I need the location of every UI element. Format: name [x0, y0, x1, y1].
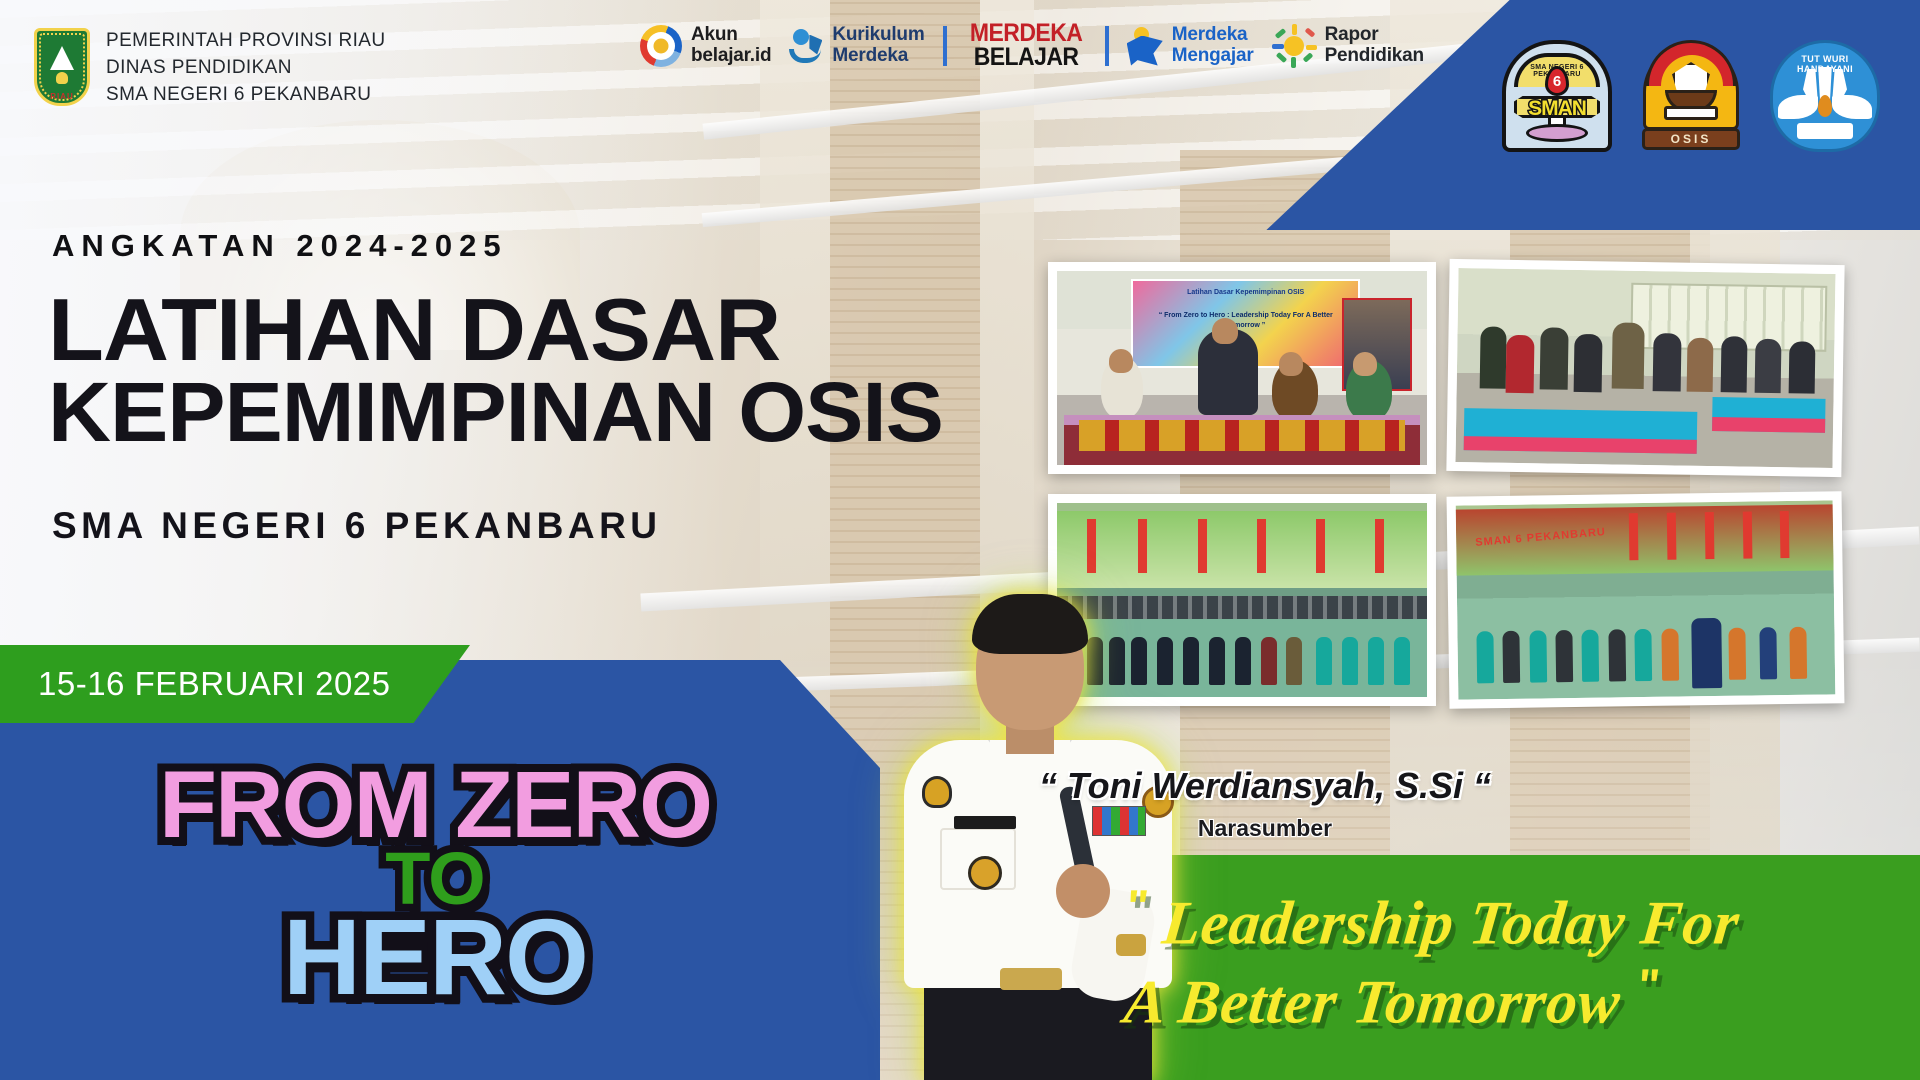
photo-banner-line1: Latihan Dasar Kepemimpinan OSIS — [1147, 288, 1345, 297]
kurikulum-merdeka-icon — [789, 27, 823, 65]
gallery-photo-participants-hall — [1446, 259, 1844, 477]
uniform-medal-icon — [968, 856, 1002, 890]
logo-akun-belajar: Akun belajar.id — [640, 25, 771, 67]
kurikulum-merdeka-line1: Kurikulum — [832, 25, 924, 46]
akun-belajar-icon — [640, 25, 682, 67]
merdeka-mengajar-line2: Mengajar — [1172, 46, 1254, 67]
quote-line-2: A Better Tomorrow — [1121, 969, 1624, 1037]
gov-line-department: DINAS PENDIDIKAN — [106, 55, 386, 82]
gov-line-school: SMA NEGERI 6 PEKANBARU — [106, 82, 386, 109]
riau-emblem-label: RIAU — [34, 92, 90, 101]
poster-canvas: RIAU PEMERINTAH PROVINSI RIAU DINAS PEND… — [0, 0, 1920, 1080]
akun-belajar-line1: Akun — [691, 25, 771, 46]
merdeka-belajar-line2: BELAJAR — [969, 46, 1081, 70]
sman6-emblem-icon: SMA NEGERI 6 PEKANBARU 6 SMAN — [1502, 40, 1612, 152]
akun-belajar-line2: belajar.id — [691, 46, 771, 67]
logo-kurikulum-merdeka: Kurikulum Merdeka — [789, 25, 924, 66]
quote-close-mark: " — [1635, 959, 1663, 1011]
tut-wuri-handayani-emblem-icon: TUT WURI HANDAYANI — [1770, 40, 1880, 152]
title-line-2: KEPEMIMPINAN OSIS — [48, 372, 984, 453]
gov-line-province: PEMERINTAH PROVINSI RIAU — [106, 28, 386, 55]
date-badge-label: 15-16 FEBRUARI 2025 — [0, 665, 391, 703]
speaker-label: “ Toni Werdiansyah, S.Si “ Narasumber — [1030, 765, 1500, 842]
logo-merdeka-mengajar: Merdeka Mengajar — [1127, 25, 1254, 66]
uniform-shoulder-badge-icon — [922, 776, 952, 808]
theme-word-hero: HERO — [70, 907, 800, 1006]
kurikulum-merdeka-line2: Merdeka — [832, 46, 924, 67]
gallery-photo-panel-session: Latihan Dasar Kepemimpinan OSIS “ From Z… — [1048, 262, 1436, 474]
speaker-name: “ Toni Werdiansyah, S.Si “ — [1030, 765, 1500, 807]
rapor-pendidikan-line2: Pendidikan — [1325, 46, 1424, 67]
school-emblem-group: SMA NEGERI 6 PEKANBARU 6 SMAN OSIS TUT W… — [1502, 40, 1880, 152]
eyebrow-angkatan: ANGKATAN 2024-2025 — [52, 228, 508, 264]
date-badge: 15-16 FEBRUARI 2025 — [0, 645, 470, 723]
quote-open-mark: " — [1124, 880, 1152, 932]
photo-banner-line3: “ From Zero to Hero : Leadership Today F… — [1147, 311, 1345, 329]
logo-rapor-pendidikan: Rapor Pendidikan — [1272, 24, 1424, 68]
theme-wordmark: FROM ZERO TO HERO — [70, 762, 800, 1007]
riau-provincial-emblem-icon: RIAU — [34, 28, 90, 106]
logo-divider — [943, 26, 947, 66]
rapor-pendidikan-line1: Rapor — [1325, 25, 1424, 46]
government-header: RIAU PEMERINTAH PROVINSI RIAU DINAS PEND… — [34, 28, 386, 109]
osis-emblem-icon: OSIS — [1636, 40, 1746, 152]
gallery-photo-formation-yard: SMAN 6 PEKANBARU — [1447, 491, 1845, 708]
title-line-1: LATIHAN DASAR — [48, 288, 984, 372]
sman6-word: SMAN — [1506, 97, 1608, 121]
speaker-role: Narasumber — [1030, 815, 1500, 842]
merdeka-mengajar-line1: Merdeka — [1172, 25, 1254, 46]
merdeka-mengajar-icon — [1127, 26, 1163, 66]
osis-base-text: OSIS — [1671, 132, 1712, 146]
logo-merdeka-belajar: MERDEKA BELAJAR — [965, 22, 1087, 69]
theme-word-from-zero: FROM ZERO — [70, 762, 800, 849]
quote-line-1: Leadership Today For — [1159, 890, 1742, 958]
theme-quote: " Leadership Today For A Better Tomorrow… — [1125, 880, 1915, 1039]
rapor-pendidikan-sun-icon — [1272, 24, 1316, 68]
page-subtitle: SMA NEGERI 6 PEKANBARU — [52, 505, 662, 547]
logo-divider — [1105, 26, 1109, 66]
page-title: LATIHAN DASAR KEPEMIMPINAN OSIS — [48, 288, 948, 453]
sman6-number: 6 — [1548, 73, 1566, 90]
partner-logo-strip: Akun belajar.id Kurikulum Merdeka MERDEK… — [640, 22, 1424, 69]
